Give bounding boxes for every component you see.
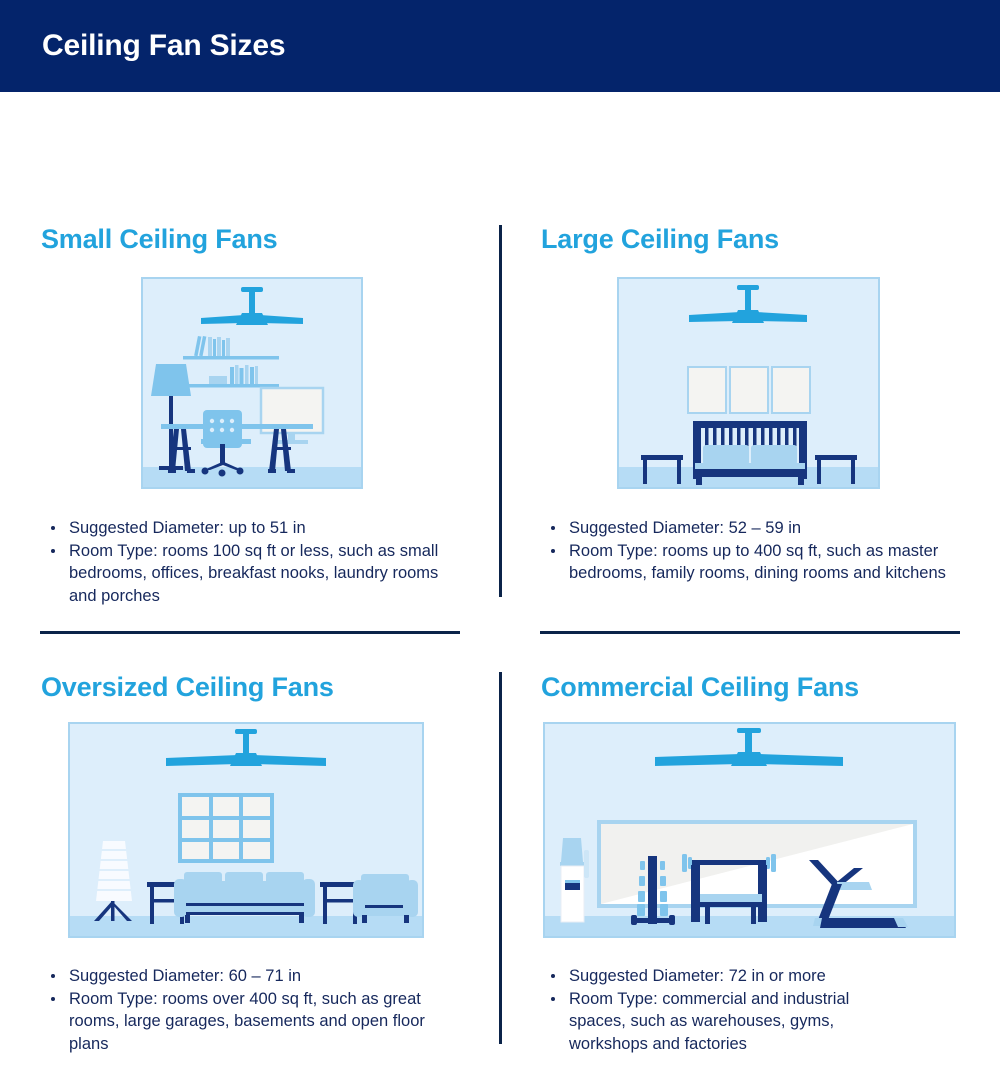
bullet-list-large: Suggested Diameter: 52 – 59 in Room Type… [550, 517, 950, 585]
list-item: Suggested Diameter: 52 – 59 in [550, 517, 950, 540]
list-item: Suggested Diameter: up to 51 in [50, 517, 470, 540]
section-commercial-ceiling-fans: Commercial Ceiling Fans [500, 632, 1000, 1092]
list-item: Room Type: rooms 100 sq ft or less, such… [50, 540, 470, 608]
list-item: Room Type: rooms over 400 sq ft, such as… [50, 988, 450, 1056]
section-large-ceiling-fans: Large Ceiling Fans [500, 184, 1000, 632]
section-small-ceiling-fans: Small Ceiling Fans [0, 184, 500, 632]
window-icon [180, 795, 272, 861]
section-title-oversized: Oversized Ceiling Fans [41, 672, 334, 703]
section-title-large: Large Ceiling Fans [541, 224, 779, 255]
bullet-list-small: Suggested Diameter: up to 51 in Room Typ… [50, 517, 470, 607]
illustration-master-bedroom [617, 277, 880, 489]
armchair-icon [353, 874, 418, 923]
illustration-gym [543, 722, 956, 938]
list-item: Suggested Diameter: 72 in or more [550, 965, 910, 988]
content-grid: Small Ceiling Fans [0, 92, 1000, 1000]
wall-art-triptych [688, 367, 810, 413]
section-title-small: Small Ceiling Fans [41, 224, 277, 255]
section-oversized-ceiling-fans: Oversized Ceiling Fans [0, 632, 500, 1092]
section-title-commercial: Commercial Ceiling Fans [541, 672, 859, 703]
list-item: Room Type: commercial and industrial spa… [550, 988, 910, 1056]
bullet-list-oversized: Suggested Diameter: 60 – 71 in Room Type… [50, 965, 450, 1055]
bullet-list-commercial: Suggested Diameter: 72 in or more Room T… [550, 965, 910, 1055]
illustration-home-office [141, 277, 363, 489]
page-title: Ceiling Fan Sizes [0, 29, 285, 63]
illustration-great-room [68, 722, 424, 938]
list-item: Room Type: rooms up to 400 sq ft, such a… [550, 540, 950, 585]
page-header: Ceiling Fan Sizes [0, 0, 1000, 92]
list-item: Suggested Diameter: 60 – 71 in [50, 965, 450, 988]
